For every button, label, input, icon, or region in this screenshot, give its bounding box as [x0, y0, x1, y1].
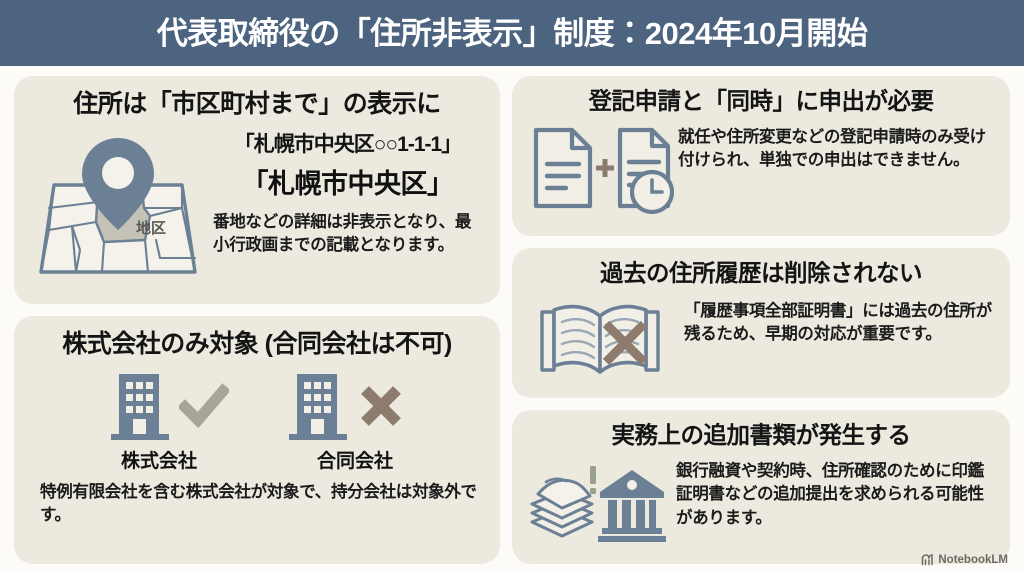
card-history-body: 「履歴事項全部証明書」には過去の住所が残るため、早期の対応が重要です。 — [684, 296, 994, 347]
header-bar: 代表取締役の「住所非表示」制度：2024年10月開始 — [0, 0, 1024, 66]
card-company-note: 特例有限会社を含む株式会社が対象で、持分会社は対象外です。 — [32, 481, 482, 528]
address-before-value: 「札幌市中央区○○1-1-1」 — [213, 128, 482, 158]
office-building-icon — [287, 370, 349, 442]
map-pin-district-icon: 地区 — [32, 128, 207, 280]
card-address-display: 住所は「市区町村まで」の表示に — [14, 76, 500, 304]
watermark-label: NotebookLM — [938, 554, 1008, 566]
address-after-value: 「札幌市中央区」 — [213, 162, 482, 201]
company-item-godo — [287, 370, 405, 442]
card-extra-docs-body: 銀行融資や契約時、住所確認のために印鑑証明書などの追加提出を求められる可能性があ… — [676, 458, 994, 530]
card-address-history: 過去の住所履歴は削除されない — [512, 248, 1010, 398]
infographic-page: 代表取締役の「住所非表示」制度：2024年10月開始 住所は「市区町村まで」の表… — [0, 0, 1024, 572]
left-column: 住所は「市区町村まで」の表示に — [14, 76, 500, 564]
card-simultaneous-row: 就任や住所変更などの登記申請時のみ受け付けられ、単独での申出はできません。 — [528, 124, 994, 216]
office-building-icon — [109, 370, 171, 442]
check-icon — [179, 383, 229, 429]
card-history-title: 過去の住所履歴は削除されない — [528, 260, 994, 288]
card-extra-docs-title: 実務上の追加書類が発生する — [528, 422, 994, 450]
company-item-kabushiki — [109, 370, 229, 442]
card-simultaneous-body: 就任や住所変更などの登記申請時のみ受け付けられ、単独での申出はできません。 — [678, 124, 994, 173]
card-address-title: 住所は「市区町村まで」の表示に — [32, 90, 482, 120]
document-stack-bank-icon — [528, 458, 676, 544]
company-label-row: 株式会社 合同会社 — [32, 444, 482, 473]
right-column: 登記申請と「同時」に申出が必要 — [512, 76, 1010, 564]
cross-icon — [357, 383, 405, 429]
svg-text:地区: 地区 — [136, 219, 166, 237]
documents-plus-clock-icon — [528, 124, 678, 216]
card-company-type: 株式会社のみ対象 (合同会社は不可) — [14, 316, 500, 564]
company-icon-row — [32, 370, 482, 442]
card-extra-documents: 実務上の追加書類が発生する — [512, 410, 1010, 564]
card-company-title: 株式会社のみ対象 (合同会社は不可) — [32, 330, 482, 360]
watermark: NotebookLM — [921, 554, 1008, 566]
card-simultaneous-application: 登記申請と「同時」に申出が必要 — [512, 76, 1010, 236]
company-label-kabushiki: 株式会社 — [121, 446, 197, 473]
card-columns: 住所は「市区町村まで」の表示に — [0, 66, 1024, 572]
card-simultaneous-title: 登記申請と「同時」に申出が必要 — [528, 88, 994, 116]
open-book-cross-icon — [528, 296, 684, 380]
card-address-texts: 「札幌市中央区○○1-1-1」 「札幌市中央区」 番地などの詳細は非表示となり、… — [207, 128, 482, 280]
card-history-row: 「履歴事項全部証明書」には過去の住所が残るため、早期の対応が重要です。 — [528, 296, 994, 380]
page-title: 代表取締役の「住所非表示」制度：2024年10月開始 — [157, 18, 867, 49]
card-address-note: 番地などの詳細は非表示となり、最小行政画までの記載となります。 — [213, 211, 482, 258]
notebooklm-icon — [921, 554, 934, 566]
card-extra-docs-row: 銀行融資や契約時、住所確認のために印鑑証明書などの追加提出を求められる可能性があ… — [528, 458, 994, 544]
card-address-content: 地区 「札幌市中央区○○1-1-1」 「札幌市中央区」 番地などの詳細は非表示と… — [32, 128, 482, 280]
company-label-godo: 合同会社 — [317, 446, 393, 473]
